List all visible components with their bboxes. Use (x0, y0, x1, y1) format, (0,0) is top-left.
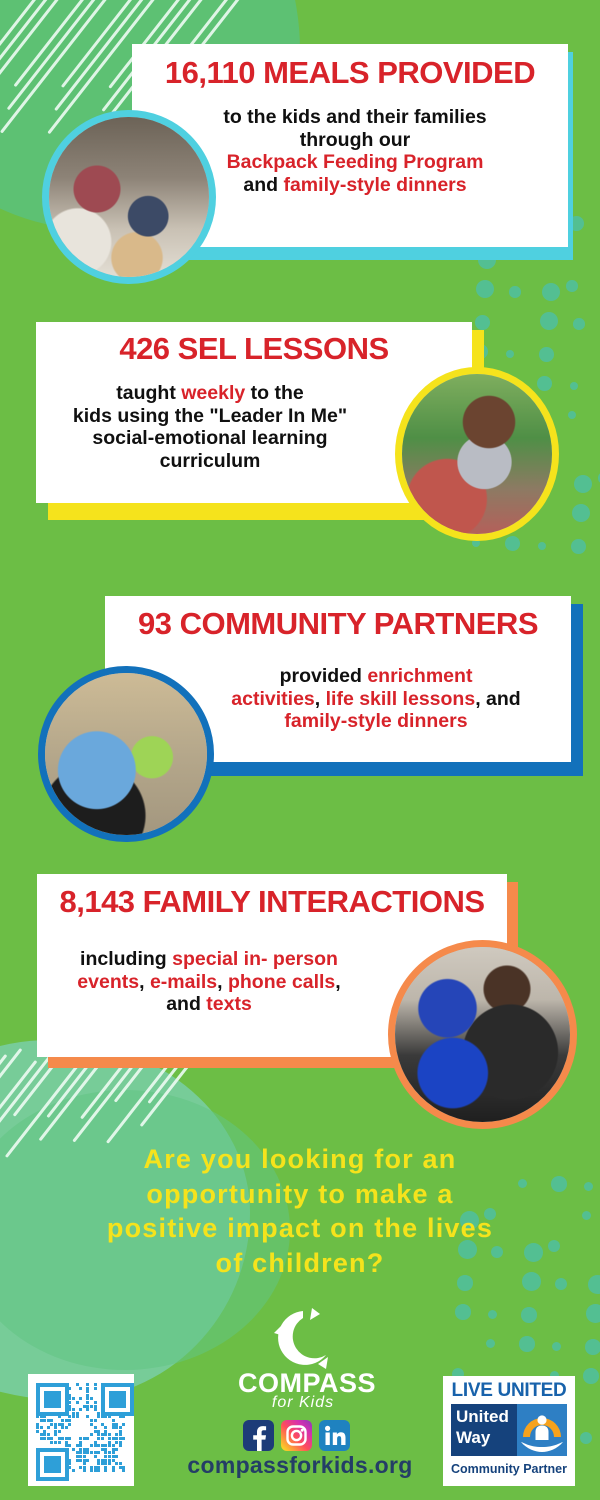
highlight-text: family-style dinners (284, 710, 467, 732)
website-url[interactable]: compassforkids.org (120, 1452, 480, 1479)
highlight-text: life skill lessons (326, 688, 476, 710)
facebook-icon[interactable] (243, 1420, 274, 1451)
stat-headline: 93 COMMUNITY PARTNERS (105, 606, 571, 642)
qr-code[interactable] (28, 1374, 134, 1486)
photo-image (395, 947, 570, 1122)
united-way-text-block: United Way (451, 1404, 517, 1456)
compass-mark-icon (238, 1306, 368, 1370)
united-way-logo: LIVE UNITED United Way Community Partner (443, 1376, 575, 1486)
highlight-text: enrichment (367, 665, 472, 687)
stat-body-line: activities, life skill lessons, and (196, 688, 556, 711)
stat-headline: 426 SEL LESSONS (36, 331, 472, 367)
highlight-text: activities (231, 688, 314, 710)
stat-body: taught weekly to thekids using the "Lead… (40, 382, 380, 472)
cta-line: positive impact on the lives (30, 1211, 570, 1246)
body-text: to the kids and their families (223, 106, 486, 128)
highlight-text: texts (206, 993, 252, 1015)
qr-finder (36, 1383, 69, 1416)
highlight-text: Backpack Feeding Program (227, 151, 484, 173)
live-united-text: LIVE UNITED (443, 1380, 575, 1402)
photo-image (402, 374, 552, 534)
qr-code-pattern (36, 1383, 126, 1475)
cta-line: of children? (30, 1246, 570, 1281)
facebook-glyph (243, 1420, 274, 1451)
stat-body-line: family-style dinners (196, 710, 556, 733)
body-text: taught (116, 382, 181, 404)
photo-image (45, 673, 207, 835)
stat-body-line: through our (152, 129, 558, 152)
stat-body-line: taught weekly to the (40, 382, 380, 405)
cta-line: opportunity to make a (30, 1177, 570, 1212)
linkedin-glyph (319, 1420, 350, 1451)
body-text: and (243, 174, 283, 196)
stat-headline: 16,110 MEALS PROVIDED (132, 55, 568, 91)
photo-boy-with-meal-tray (42, 110, 216, 284)
stat-body-line: provided enrichment (196, 665, 556, 688)
body-text: including (80, 948, 172, 970)
stat-body-line: including special in- person (44, 948, 374, 971)
social-links (243, 1420, 363, 1452)
united-way-mark: United Way (451, 1404, 567, 1456)
highlight-text: events (77, 971, 139, 993)
cta-line: Are you looking for an (30, 1142, 570, 1177)
way-text: Way (456, 1428, 490, 1448)
call-to-action: Are you looking for an opportunity to ma… (30, 1142, 570, 1280)
photo-image (49, 117, 209, 277)
highlight-text: family-style dinners (283, 174, 466, 196)
qr-finder (101, 1383, 134, 1416)
body-text: through our (300, 129, 410, 151)
stat-body-line: kids using the "Leader In Me" (40, 405, 380, 428)
stat-body-line: and texts (44, 993, 374, 1016)
stat-body-line: to the kids and their families (152, 106, 558, 129)
body-text: provided (280, 665, 368, 687)
body-text: social-emotional learning (92, 427, 327, 449)
compass-tagline: for Kids (238, 1394, 368, 1412)
highlight-text: phone calls (228, 971, 335, 993)
stat-body: provided enrichmentactivities, life skil… (196, 665, 556, 733)
stat-body-line: curriculum (40, 450, 380, 473)
body-text: kids using the "Leader In Me" (73, 405, 347, 427)
body-text: curriculum (160, 450, 261, 472)
instagram-icon[interactable] (281, 1420, 312, 1451)
infographic-root: 16,110 MEALS PROVIDED to the kids and th… (0, 0, 600, 1500)
body-text: , (315, 688, 326, 710)
highlight-text: e-mails (150, 971, 217, 993)
body-text: , and (475, 688, 521, 710)
body-text: , (217, 971, 228, 993)
instagram-glyph (281, 1420, 312, 1451)
community-partner-text: Community Partner (443, 1462, 575, 1476)
highlight-text: special in- person (172, 948, 338, 970)
linkedin-icon[interactable] (319, 1420, 350, 1451)
stat-headline: 8,143 FAMILY INTERACTIONS (37, 884, 507, 920)
body-text: , (335, 971, 340, 993)
highlight-text: weekly (181, 382, 245, 404)
stat-body: including special in- personevents, e-ma… (44, 948, 374, 1016)
united-text: United (456, 1407, 509, 1427)
qr-finder (36, 1448, 69, 1481)
rainbow-hand-person-icon (517, 1404, 567, 1456)
photo-girl-with-blocks (395, 367, 559, 541)
united-way-symbol (517, 1404, 567, 1456)
stat-body-line: social-emotional learning (40, 427, 380, 450)
stat-body-line: Backpack Feeding Program (152, 151, 558, 174)
photo-two-kids (388, 940, 577, 1129)
compass-logo: COMPASS for Kids (238, 1306, 368, 1416)
photo-girl-with-ball (38, 666, 214, 842)
body-text: and (166, 993, 206, 1015)
body-text: to the (245, 382, 304, 404)
body-text: , (139, 971, 150, 993)
stat-body-line: events, e-mails, phone calls, (44, 971, 374, 994)
